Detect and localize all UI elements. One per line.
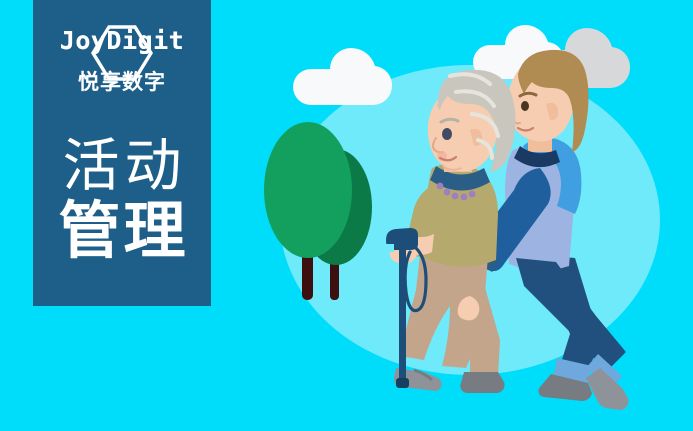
title-panel: JoyDigit 悦享数字 活动 管理 [33,0,211,306]
poster-canvas: JoyDigit 悦享数字 活动 管理 [0,0,693,431]
elderly-woman-back-shoe [460,372,504,393]
brand-wordmark: JoyDigit [60,26,184,56]
cloud-white-icon [293,48,392,105]
page-title-line-1: 活动 [33,134,211,198]
brand-chinese-name: 悦享数字 [33,66,211,96]
page-title: 活动 管理 [33,134,211,264]
page-title-line-2: 管理 [33,198,211,264]
brand-block: JoyDigit 悦享数字 [33,26,211,96]
